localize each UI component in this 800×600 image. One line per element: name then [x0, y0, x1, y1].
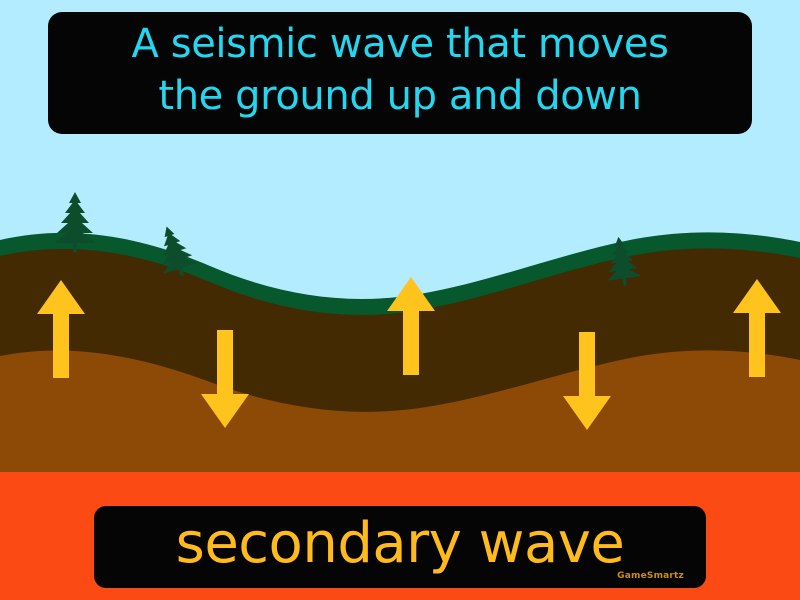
definition-banner: A seismic wave that moves the ground up … — [48, 12, 752, 134]
term-label: secondary wave — [176, 514, 625, 574]
watermark-label: GameSmartz — [617, 571, 684, 581]
definition-line-1: A seismic wave that moves — [132, 18, 669, 70]
definition-card: A seismic wave that moves the ground up … — [0, 0, 800, 600]
term-banner: secondary wave GameSmartz — [94, 506, 706, 588]
definition-line-2: the ground up and down — [158, 70, 641, 122]
